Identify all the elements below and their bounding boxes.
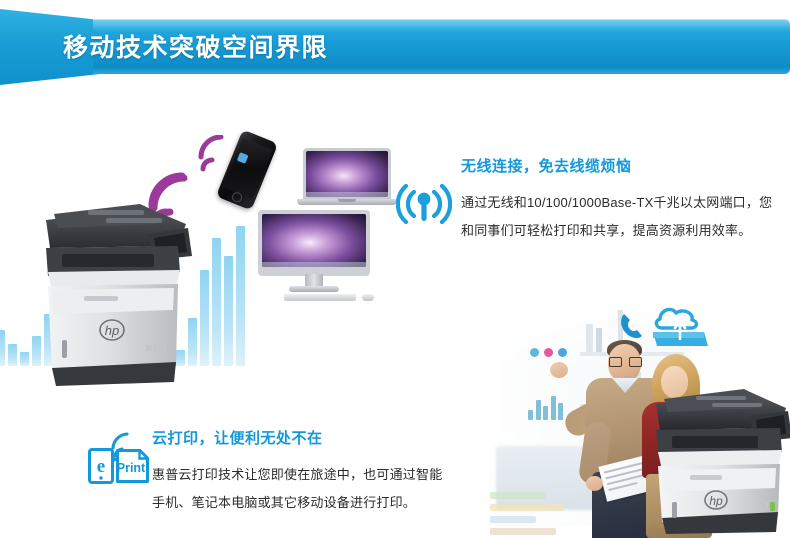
equalizer-bar (212, 238, 221, 366)
equalizer-bar (8, 344, 17, 366)
section-wireless: 无线连接，免去线缆烦恼 通过无线和10/100/1000Base-TX千兆以太网… (461, 155, 781, 245)
mini-chart-bar (543, 406, 548, 420)
wireless-body-line1: 通过无线和10/100/1000Base-TX千兆以太网端口，您 (461, 189, 781, 217)
laptop-device (297, 148, 397, 212)
man-holding-hand (586, 476, 603, 491)
man-pointing-hand (550, 362, 568, 378)
mini-bar-chart-graphic (528, 394, 566, 420)
header-ribbon: 移动技术突破空间界限 (0, 0, 790, 92)
equalizer-bar (0, 330, 5, 366)
wireless-body-line2: 和同事们可轻松打印和共享，提高资源利用效率。 (461, 217, 781, 245)
imac-stand-foot (289, 286, 339, 292)
imac-bezel (258, 210, 370, 276)
laptop-lid (303, 148, 391, 200)
cloud-icon (618, 300, 710, 352)
printer-left-image: hp (28, 190, 203, 390)
wifi-icon (396, 180, 452, 233)
page-title: 移动技术突破空间界限 (63, 28, 328, 64)
equalizer-bar (224, 256, 233, 366)
laptop-screen (306, 151, 388, 197)
wireless-heading: 无线连接，免去线缆烦恼 (461, 155, 781, 176)
section-cloud-print: 云打印，让便利无处不在 惠普云打印技术让您即使在旅途中，也可通过智能 手机、笔记… (152, 427, 462, 517)
svg-text:hp: hp (105, 323, 119, 338)
imac-mouse (362, 294, 374, 301)
office-photo-scene: hp (468, 296, 790, 538)
mini-chart-bar (536, 400, 541, 420)
cloudprint-heading: 云打印，让便利无处不在 (152, 427, 462, 448)
cloudprint-body-line1: 惠普云打印技术让您即使在旅途中，也可通过智能 (152, 461, 462, 489)
printer-right-image: hp (646, 384, 790, 534)
svg-text:Print: Print (117, 461, 146, 475)
equalizer-bar (236, 226, 245, 366)
svg-text:hp: hp (709, 494, 723, 508)
laptop-notch (338, 199, 356, 202)
eprint-logo: e Print (88, 428, 150, 488)
desktop-imac-device (258, 210, 370, 300)
mini-chart-bar (528, 410, 533, 420)
cloudprint-body-line2: 手机、笔记本电脑或其它移动设备进行打印。 (152, 489, 462, 517)
mini-chart-bar (558, 403, 563, 420)
promo-page: 移动技术突破空间界限 (0, 0, 790, 538)
svg-text:e: e (97, 456, 105, 477)
imac-screen (262, 214, 366, 267)
imac-keyboard (284, 294, 356, 301)
mini-chart-bar (551, 396, 556, 420)
